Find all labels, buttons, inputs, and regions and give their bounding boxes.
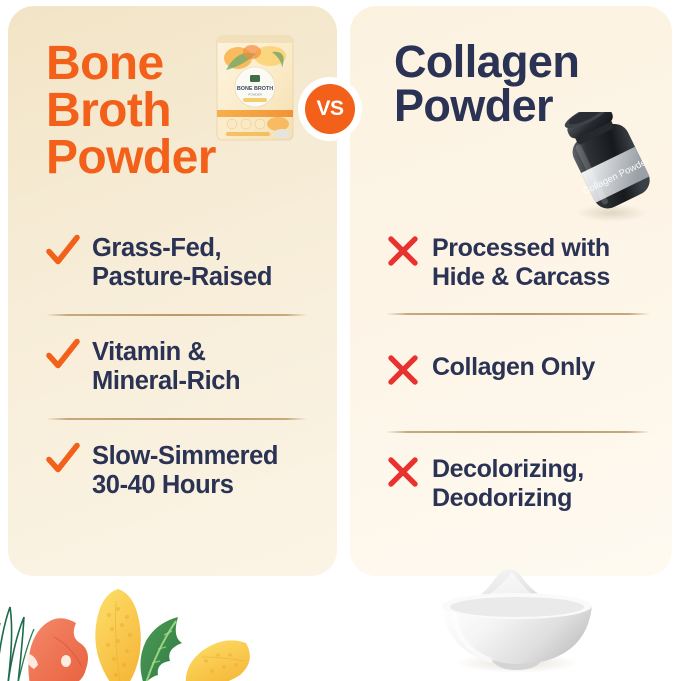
feature-line: Pasture-Raised xyxy=(92,263,272,292)
list-item-label: Slow-Simmered 30-40 Hours xyxy=(92,440,278,500)
spacer xyxy=(350,335,672,351)
divider xyxy=(386,431,650,433)
list-item-label: Vitamin & Mineral-Rich xyxy=(92,336,240,396)
feature-line: Grass-Fed, xyxy=(92,234,272,263)
list-item-label: Grass-Fed, Pasture-Raised xyxy=(92,232,272,292)
list-item-label: Decolorizing, Deodorizing xyxy=(432,453,584,512)
list-item: Decolorizing, Deodorizing xyxy=(386,453,654,512)
corn-cob-large xyxy=(95,589,140,681)
feature-line: Decolorizing, xyxy=(432,455,584,484)
right-feature-list: Processed with Hide & Carcass Collagen O… xyxy=(350,232,672,512)
check-icon xyxy=(46,442,80,476)
svg-text:POWDER: POWDER xyxy=(248,93,262,97)
feature-line: Vitamin & xyxy=(92,338,240,367)
list-item-label: Collagen Only xyxy=(432,351,595,382)
feature-line: Processed with xyxy=(432,234,610,263)
cross-icon xyxy=(386,455,420,489)
collagen-powder-jar-image: Collagen Powder xyxy=(560,112,664,224)
check-icon xyxy=(46,234,80,268)
divider xyxy=(46,314,307,316)
comparison-infographic: Bone Broth Powder Grass-Fed, Pasture-Rai… xyxy=(0,0,679,681)
green-leaf xyxy=(140,617,182,681)
spacer xyxy=(350,387,672,409)
list-item-label: Processed with Hide & Carcass xyxy=(432,232,610,291)
powder-bowl-image xyxy=(424,556,610,676)
divider xyxy=(386,313,650,315)
list-item: Grass-Fed, Pasture-Raised xyxy=(46,232,309,292)
bone-broth-pouch-image: BONE BROTH POWDER xyxy=(212,32,298,144)
left-feature-list: Grass-Fed, Pasture-Raised Vitamin & Mine… xyxy=(8,232,337,500)
feature-line: Collagen Only xyxy=(432,353,595,382)
feature-line: Hide & Carcass xyxy=(432,263,610,292)
right-panel-collagen-powder: Collagen Powder Processed with Hide & Ca… xyxy=(350,6,672,576)
heading-line-1: Collagen xyxy=(394,40,654,84)
squash-slice xyxy=(26,618,88,681)
cross-icon xyxy=(386,234,420,268)
list-item: Slow-Simmered 30-40 Hours xyxy=(46,440,309,500)
vs-badge: VS xyxy=(305,84,355,134)
check-icon xyxy=(46,338,80,372)
feature-line: Mineral-Rich xyxy=(92,367,240,396)
vegetable-decoration xyxy=(0,565,294,681)
feature-line: 30-40 Hours xyxy=(92,471,278,500)
cross-icon xyxy=(386,353,420,387)
corn-cob-small xyxy=(186,640,250,681)
list-item: Collagen Only xyxy=(386,351,654,387)
feature-line: Slow-Simmered xyxy=(92,442,278,471)
feature-line: Deodorizing xyxy=(432,484,584,513)
divider xyxy=(46,418,307,420)
svg-text:BONE BROTH: BONE BROTH xyxy=(237,86,273,92)
list-item: Vitamin & Mineral-Rich xyxy=(46,336,309,396)
list-item: Processed with Hide & Carcass xyxy=(386,232,654,291)
